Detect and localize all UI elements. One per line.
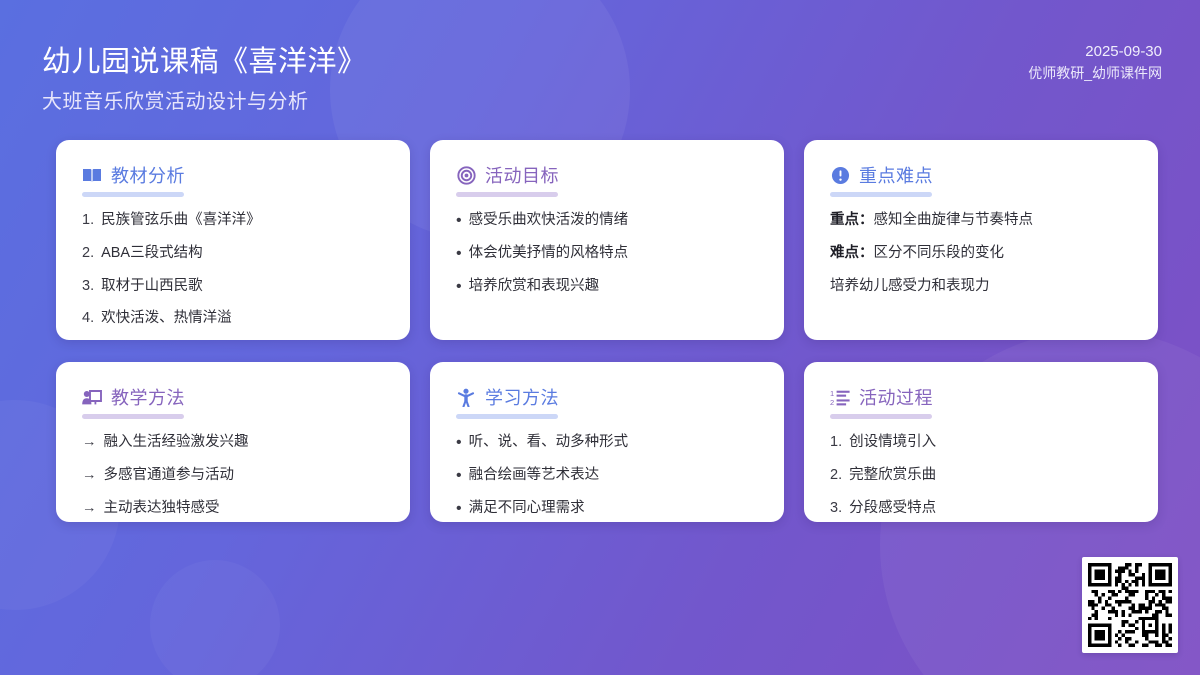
card-item-list: 重点：感知全曲旋律与节奏特点难点：区分不同乐段的变化培养幼儿感受力和表现力 [830,210,1132,297]
list-item: 3.取材于山西民歌 [82,276,384,298]
list-item-text: 听、说、看、动多种形式 [469,432,629,454]
svg-text:1: 1 [830,389,834,398]
list-item: 2.ABA三段式结构 [82,243,384,265]
list-item: 2.完整欣赏乐曲 [830,465,1132,487]
list-item-marker: • [456,432,462,454]
card-title: 活动过程 [859,384,933,410]
card-grid: 教材分析1.民族管弦乐曲《喜洋洋》2.ABA三段式结构3.取材于山西民歌4.欢快… [56,140,1146,522]
card-learning-methods: 学习方法•听、说、看、动多种形式•融合绘画等艺术表达•满足不同心理需求 [430,362,784,522]
card-header: 1 2 活动过程 [830,384,1132,410]
list-item-marker: • [456,243,462,265]
card-title-underline [456,414,558,419]
list-item-text: 创设情境引入 [849,432,936,454]
svg-text:2: 2 [830,398,834,406]
card-teaching-material-analysis: 教材分析1.民族管弦乐曲《喜洋洋》2.ABA三段式结构3.取材于山西民歌4.欢快… [56,140,410,340]
card-title: 活动目标 [485,162,559,188]
card-key-points-difficulties: 重点难点重点：感知全曲旋律与节奏特点难点：区分不同乐段的变化培养幼儿感受力和表现… [804,140,1158,340]
card-title-underline [830,192,932,197]
list-item-label: 重点： [830,212,874,228]
target-icon [456,165,476,185]
list-item: 3.分段感受特点 [830,498,1132,520]
list-item-text: 培养欣赏和表现兴趣 [469,276,600,298]
list-item: •培养欣赏和表现兴趣 [456,276,758,298]
card-item-list: •听、说、看、动多种形式•融合绘画等艺术表达•满足不同心理需求 [456,432,758,520]
list-item-text: 欢快活泼、热情洋溢 [101,308,232,330]
ordered-list-icon: 1 2 [830,387,850,407]
list-item: •融合绘画等艺术表达 [456,465,758,487]
list-item-text: 培养幼儿感受力和表现力 [830,276,990,298]
card-item-list: •感受乐曲欢快活泼的情绪•体会优美抒情的风格特点•培养欣赏和表现兴趣 [456,210,758,298]
list-item: 重点：感知全曲旋律与节奏特点 [830,210,1132,232]
card-item-list: 1.民族管弦乐曲《喜洋洋》2.ABA三段式结构3.取材于山西民歌4.欢快活泼、热… [82,210,384,330]
card-header: 教学方法 [82,384,384,410]
list-item-marker: 3. [830,498,842,520]
book-icon [82,165,102,185]
card-header: 活动目标 [456,162,758,188]
presentation-person-icon [82,387,102,407]
list-item-marker: 2. [830,465,842,487]
list-item-marker: • [456,276,462,298]
list-item: 1.创设情境引入 [830,432,1132,454]
header-meta: 2025-09-30 优师教研_幼师课件网 [1028,40,1162,85]
list-item-text: 难点：区分不同乐段的变化 [830,243,1004,265]
list-item-text: 取材于山西民歌 [101,276,203,298]
qr-code[interactable] [1082,557,1178,653]
list-item-value: 感知全曲旋律与节奏特点 [874,212,1034,228]
list-item: →多感官通道参与活动 [82,465,384,487]
list-item-marker: → [82,498,97,520]
date-label: 2025-09-30 [1028,40,1162,63]
list-item: •体会优美抒情的风格特点 [456,243,758,265]
source-label: 优师教研_幼师课件网 [1028,63,1162,85]
card-title: 教材分析 [111,162,185,188]
card-teaching-methods: 教学方法→融入生活经验激发兴趣→多感官通道参与活动→主动表达独特感受 [56,362,410,522]
list-item: 培养幼儿感受力和表现力 [830,276,1132,298]
card-title: 教学方法 [111,384,185,410]
card-activity-process: 1 2 活动过程1.创设情境引入2.完整欣赏乐曲3.分段感受特点 [804,362,1158,522]
card-title-underline [82,192,184,197]
qr-code-image [1088,563,1172,647]
list-item-text: 满足不同心理需求 [469,498,585,520]
list-item-text: ABA三段式结构 [101,243,203,265]
child-person-icon [456,387,476,407]
list-item-marker: → [82,432,97,454]
card-title: 重点难点 [859,162,933,188]
exclamation-circle-icon [830,165,850,185]
list-item-text: 重点：感知全曲旋律与节奏特点 [830,210,1033,232]
list-item-text: 完整欣赏乐曲 [849,465,936,487]
page-title: 幼儿园说课稿《喜洋洋》 [42,38,367,80]
card-title: 学习方法 [485,384,559,410]
card-item-list: →融入生活经验激发兴趣→多感官通道参与活动→主动表达独特感受 [82,432,384,519]
list-item: •满足不同心理需求 [456,498,758,520]
list-item: 难点：区分不同乐段的变化 [830,243,1132,265]
list-item-text: 体会优美抒情的风格特点 [469,243,629,265]
slide-canvas: 幼儿园说课稿《喜洋洋》 大班音乐欣赏活动设计与分析 2025-09-30 优师教… [0,0,1200,675]
list-item-value: 区分不同乐段的变化 [874,245,1005,261]
card-title-underline [456,192,558,197]
list-item: •感受乐曲欢快活泼的情绪 [456,210,758,232]
card-title-underline [82,414,184,419]
list-item-marker: → [82,465,97,487]
list-item: →融入生活经验激发兴趣 [82,432,384,454]
card-header: 重点难点 [830,162,1132,188]
slide-header: 幼儿园说课稿《喜洋洋》 大班音乐欣赏活动设计与分析 2025-09-30 优师教… [0,0,1200,130]
list-item-marker: 1. [82,210,94,232]
list-item-text: 感受乐曲欢快活泼的情绪 [469,210,629,232]
list-item-marker: 1. [830,432,842,454]
card-header: 教材分析 [82,162,384,188]
list-item-marker: • [456,465,462,487]
list-item: 1.民族管弦乐曲《喜洋洋》 [82,210,384,232]
card-header: 学习方法 [456,384,758,410]
list-item-text: 多感官通道参与活动 [104,465,235,487]
list-item-marker: 3. [82,276,94,298]
list-item-text: 融合绘画等艺术表达 [469,465,600,487]
list-item: •听、说、看、动多种形式 [456,432,758,454]
card-activity-objectives: 活动目标•感受乐曲欢快活泼的情绪•体会优美抒情的风格特点•培养欣赏和表现兴趣 [430,140,784,340]
page-subtitle: 大班音乐欣赏活动设计与分析 [42,85,309,114]
list-item: 4.欢快活泼、热情洋溢 [82,308,384,330]
list-item-text: 融入生活经验激发兴趣 [104,432,249,454]
card-title-underline [830,414,932,419]
list-item: →主动表达独特感受 [82,498,384,520]
card-item-list: 1.创设情境引入2.完整欣赏乐曲3.分段感受特点 [830,432,1132,519]
list-item-text: 分段感受特点 [849,498,936,520]
decor-circle-bottom [150,560,280,675]
list-item-marker: 2. [82,243,94,265]
list-item-text: 主动表达独特感受 [104,498,220,520]
list-item-marker: 4. [82,308,94,330]
list-item-marker: • [456,498,462,520]
list-item-text: 民族管弦乐曲《喜洋洋》 [101,210,261,232]
list-item-label: 难点： [830,245,874,261]
list-item-marker: • [456,210,462,232]
